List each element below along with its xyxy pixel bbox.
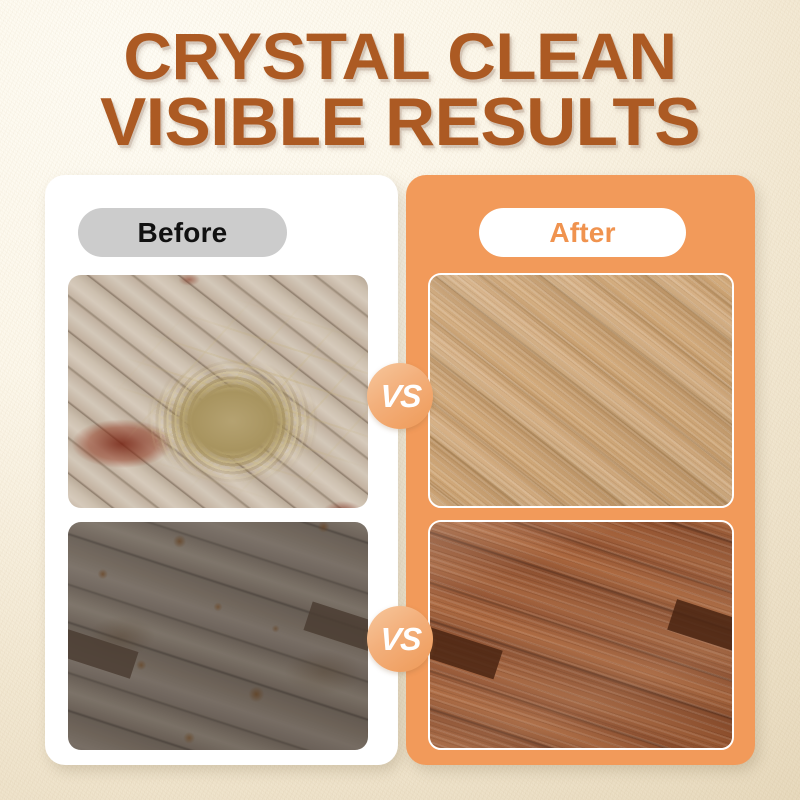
vs-badge-top: VS (367, 363, 433, 429)
before-photo-spaghetti (68, 275, 368, 508)
title-line-1: CRYSTAL CLEAN (0, 24, 800, 89)
before-badge: Before (78, 208, 287, 257)
after-panel: After (406, 175, 755, 765)
before-photo-stained-floor (68, 522, 368, 750)
after-badge: After (479, 208, 686, 257)
poster-canvas: CRYSTAL CLEAN VISIBLE RESULTS Before Aft… (0, 0, 800, 800)
after-photo-clean-light-floor (428, 273, 734, 508)
after-photo-clean-dark-floor (428, 520, 734, 750)
spaghetti-pile (68, 275, 368, 508)
before-badge-label: Before (138, 217, 228, 249)
clean-light-wood-grain (428, 273, 734, 508)
vs-badge-top-label: VS (379, 380, 422, 412)
after-badge-label: After (549, 217, 615, 249)
page-title: CRYSTAL CLEAN VISIBLE RESULTS (0, 24, 800, 155)
vs-badge-bottom: VS (367, 606, 433, 672)
title-line-2: VISIBLE RESULTS (0, 89, 800, 156)
before-panel: Before (45, 175, 398, 765)
vs-badge-bottom-label: VS (379, 623, 422, 655)
